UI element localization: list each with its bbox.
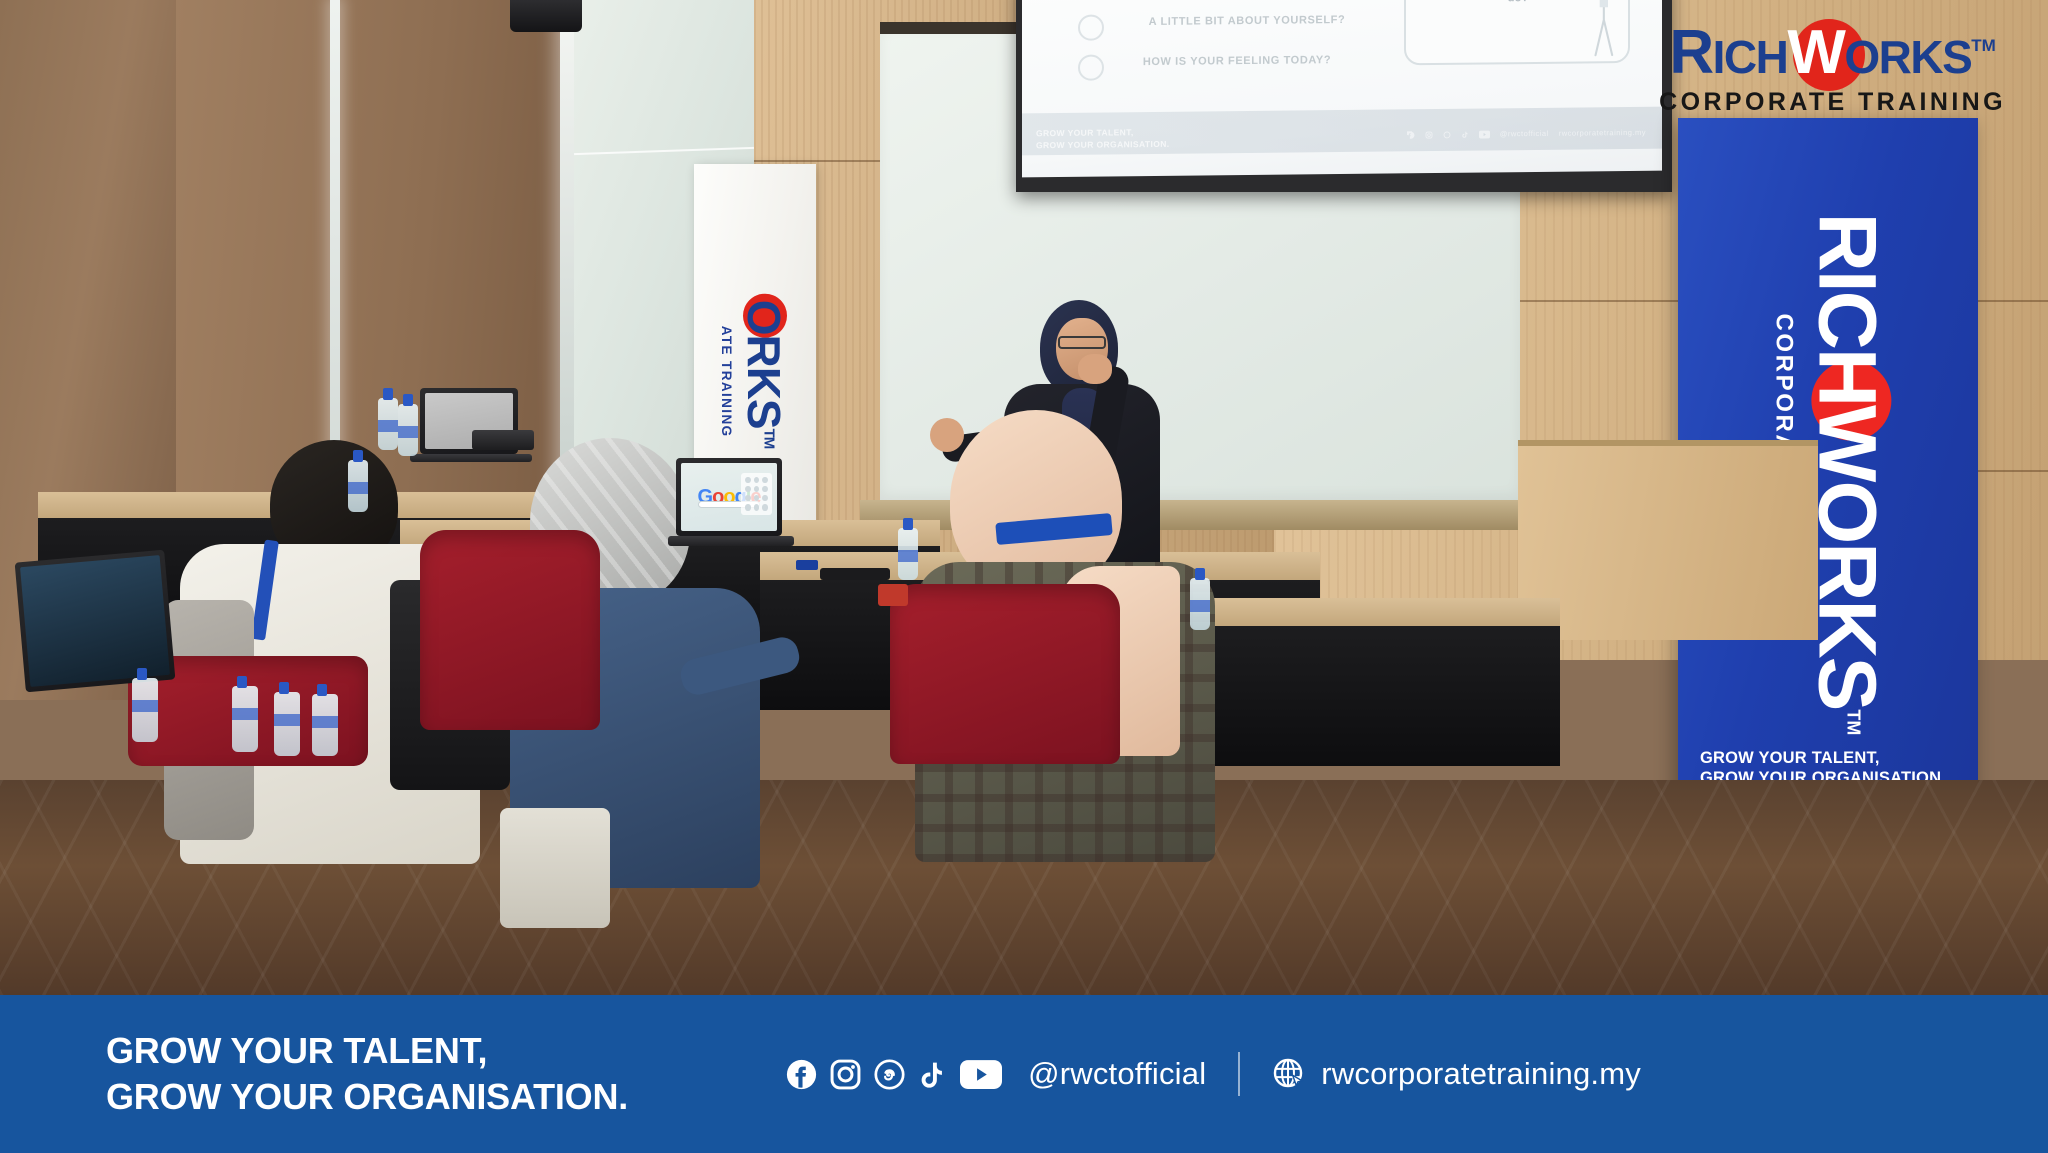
rollup-white-tm: TM xyxy=(760,429,777,449)
slide-question-1: A LITTLE BIT ABOUT YOURSELF? xyxy=(1132,14,1362,30)
slide-footer-handle: @rwctofficial xyxy=(1500,129,1549,139)
youtube-icon[interactable] xyxy=(960,1059,1002,1090)
app-dot xyxy=(754,486,760,492)
footer-tagline-line2: GROW YOUR ORGANISATION. xyxy=(106,1074,628,1120)
overlay-logo-subtitle: CORPORATE TRAINING xyxy=(1659,88,2006,117)
laptop-front-left xyxy=(15,550,176,693)
slide-question-2: HOW IS YOUR FEELING TODAY? xyxy=(1122,54,1352,70)
slide-bullet-2 xyxy=(1078,54,1104,80)
laptop-google-display: Google xyxy=(681,463,777,531)
threads-icon[interactable] xyxy=(874,1059,905,1090)
globe-cursor-icon[interactable] xyxy=(1272,1057,1306,1091)
footer-website[interactable]: rwcorporatetraining.my xyxy=(1321,1056,1641,1092)
side-cabinet xyxy=(1518,440,1818,640)
water-bottle xyxy=(274,692,300,756)
footer-website-group[interactable]: rwcorporatetraining.my xyxy=(1272,1056,1641,1092)
rollup-white-brand-text: ORKS xyxy=(738,300,790,429)
tiktok-icon[interactable] xyxy=(918,1059,947,1090)
screenshot-root: icebreaker questions A LITTLE BIT ABOUT … xyxy=(0,0,2048,1153)
rollup-blue-brand-rich: RICH xyxy=(1801,213,1892,405)
app-dot xyxy=(754,495,760,501)
slide-footer-line2: GROW YOUR ORGANISATION. xyxy=(1036,138,1170,151)
water-bottle xyxy=(232,686,258,752)
overlay-logo-ich: ICH xyxy=(1713,31,1788,83)
facebook-icon[interactable] xyxy=(786,1059,817,1090)
instagram-icon xyxy=(1425,131,1433,139)
footer-tagline-line1: GROW YOUR TALENT, xyxy=(106,1028,628,1074)
chair-red-1 xyxy=(420,530,600,730)
rollup-blue-tm: TM xyxy=(1843,709,1863,735)
laptop-google[interactable]: Google xyxy=(676,458,782,536)
water-bottle xyxy=(1190,578,1210,630)
overlay-logo-orks: ORKS xyxy=(1844,31,1971,83)
google-apps-grid xyxy=(741,473,772,515)
footer-divider xyxy=(1238,1052,1240,1096)
water-bottle xyxy=(348,460,368,512)
app-dot xyxy=(754,504,760,510)
rollup-blue-tagline-1: GROW YOUR TALENT, xyxy=(1700,749,1962,769)
desk-red-item xyxy=(878,584,908,606)
threads-icon xyxy=(1443,130,1451,138)
overlay-logo-wordmark: RICHWORKSTM xyxy=(1659,22,2006,84)
footer-social-group: @rwctofficial rwcorporatetraining.my xyxy=(786,1052,1707,1096)
facebook-icon xyxy=(1407,131,1415,139)
presenter-left-hand xyxy=(930,418,964,452)
footer-banner: GROW YOUR TALENT, GROW YOUR ORGANISATION… xyxy=(0,995,2048,1153)
desk-device-box xyxy=(472,430,534,450)
ceiling-speaker xyxy=(510,0,582,32)
rollup-white-brand: ORKSTM xyxy=(737,300,791,449)
app-dot xyxy=(745,504,751,510)
footer-handle[interactable]: @rwctofficial xyxy=(1028,1056,1206,1092)
app-dot xyxy=(762,477,768,483)
app-dot xyxy=(762,486,768,492)
rollup-white-subtitle: ATE TRAINING xyxy=(719,300,734,449)
app-dot xyxy=(745,477,751,483)
instagram-icon[interactable] xyxy=(830,1059,861,1090)
desk-pen xyxy=(796,560,818,570)
training-session-photo: icebreaker questions A LITTLE BIT ABOUT … xyxy=(0,0,2048,995)
attendee2-skirt xyxy=(500,808,610,928)
overlay-logo-tm: TM xyxy=(1971,36,1996,55)
water-bottle xyxy=(398,404,418,456)
laptop-google-base xyxy=(668,536,794,546)
laptop-front-left-display xyxy=(20,555,170,687)
footer-social-icons xyxy=(786,1059,1002,1090)
youtube-icon xyxy=(1479,130,1490,138)
tiktok-icon xyxy=(1461,130,1469,138)
water-bottle xyxy=(378,398,398,450)
overlay-logo-w: W xyxy=(1787,18,1844,87)
desk-remote xyxy=(820,568,890,580)
rollup-white-text-group: ORKSTM ATE TRAINING xyxy=(719,300,791,449)
slide-bullet-1 xyxy=(1078,14,1104,40)
app-dot xyxy=(762,504,768,510)
water-bottle xyxy=(312,694,338,756)
app-dot xyxy=(762,495,768,501)
slide-footer-website: rwcorporatetraining.my xyxy=(1559,128,1646,138)
chair-red-2 xyxy=(890,584,1120,764)
app-dot xyxy=(745,486,751,492)
overlay-richworks-logo: RICHWORKSTM CORPORATE TRAINING xyxy=(1659,22,2006,117)
laptop-hp-base xyxy=(410,454,532,462)
footer-tagline: GROW YOUR TALENT, GROW YOUR ORGANISATION… xyxy=(106,1028,628,1120)
water-bottle xyxy=(132,678,158,742)
projector-slide: icebreaker questions A LITTLE BIT ABOUT … xyxy=(1022,0,1662,177)
water-bottle xyxy=(898,528,918,580)
app-dot xyxy=(745,495,751,501)
app-dot xyxy=(754,477,760,483)
slide-presenter-illustration-icon xyxy=(1576,0,1640,60)
presenter-right-hand xyxy=(1078,354,1112,384)
overlay-logo-prefix: R xyxy=(1669,18,1712,87)
slide-footer-tagline: GROW YOUR TALENT, GROW YOUR ORGANISATION… xyxy=(1036,127,1170,151)
presenter-glasses-icon xyxy=(1058,336,1106,349)
